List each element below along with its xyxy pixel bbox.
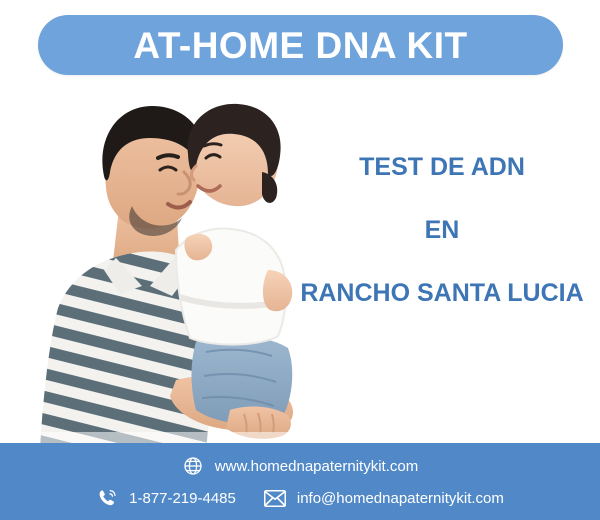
footer-bar: www.homednapaternitykit.com 1-877-219-44… bbox=[0, 443, 600, 520]
headline-block: TEST DE ADN EN RANCHO SANTA LUCIA bbox=[296, 155, 588, 306]
envelope-icon bbox=[264, 487, 286, 509]
contact-phone[interactable]: 1-877-219-4485 bbox=[96, 487, 236, 509]
headline-line-1: TEST DE ADN bbox=[296, 155, 588, 180]
globe-icon bbox=[182, 455, 204, 477]
contact-email[interactable]: info@homednapaternitykit.com bbox=[264, 487, 504, 509]
family-photo bbox=[0, 80, 320, 450]
promo-poster: AT-HOME DNA KIT bbox=[0, 0, 600, 520]
website-label: www.homednapaternitykit.com bbox=[215, 459, 418, 474]
phone-label: 1-877-219-4485 bbox=[129, 491, 236, 506]
email-label: info@homednapaternitykit.com bbox=[297, 491, 504, 506]
phone-icon bbox=[96, 487, 118, 509]
contact-website[interactable]: www.homednapaternitykit.com bbox=[182, 455, 418, 477]
family-photo-illustration bbox=[0, 80, 320, 450]
footer-row-phone-email: 1-877-219-4485 info@homednapaternitykit.… bbox=[0, 487, 600, 509]
banner-title: AT-HOME DNA KIT bbox=[133, 27, 467, 64]
footer-row-website: www.homednapaternitykit.com bbox=[0, 455, 600, 477]
headline-line-2: EN bbox=[296, 218, 588, 243]
header-banner: AT-HOME DNA KIT bbox=[38, 15, 563, 75]
headline-line-3: RANCHO SANTA LUCIA bbox=[296, 281, 588, 306]
